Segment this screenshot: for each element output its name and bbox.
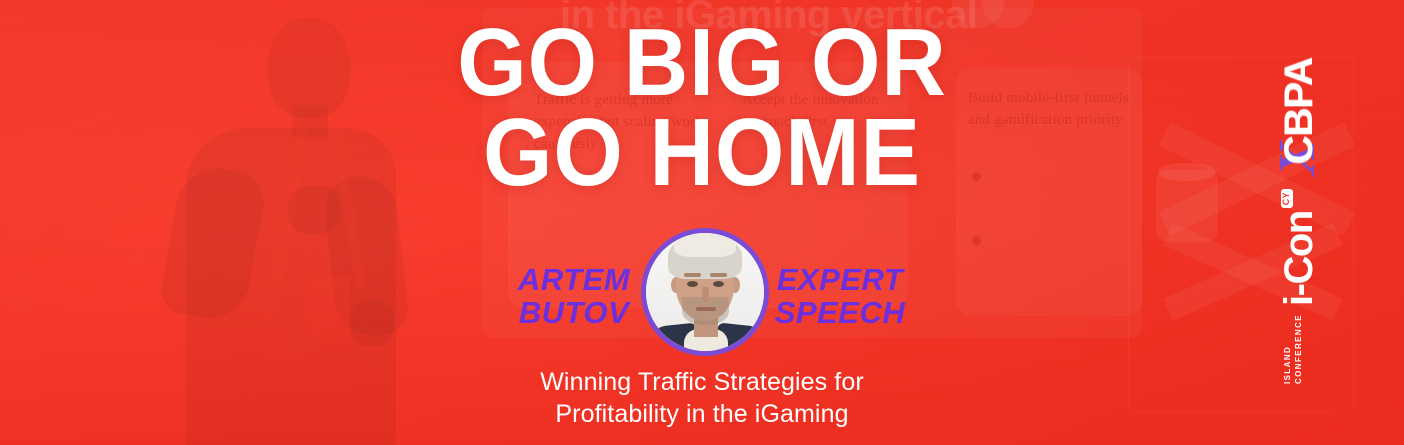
bg-shape-hand-upper [288, 186, 340, 234]
background-bullet-dot [972, 172, 981, 181]
bg-shape-hand-lower [350, 300, 394, 346]
avatar-hair-highlight [674, 233, 736, 257]
avatar-brow-right [710, 273, 727, 277]
promo-banner: in the iGaming vertical Traffic is getti… [0, 0, 1404, 445]
subtitle-line-1: Winning Traffic Strategies for [0, 366, 1404, 398]
background-ghost-text-c: Build mobile-first funnels and gamificat… [968, 88, 1132, 132]
subtitle-line-2: Profitability in the iGaming [0, 398, 1404, 430]
avatar-nose [702, 287, 709, 303]
avatar-brow-left [684, 273, 701, 277]
speaker-first-name: ARTEM [500, 263, 648, 296]
avatar-eye-left [687, 281, 698, 287]
bg-shape-hair [262, 8, 356, 56]
bg-shape-badge [306, 276, 350, 338]
avatar-mouth [696, 307, 716, 311]
background-ghost-text-a: Traffic is getting more expensive but sc… [534, 90, 724, 155]
speaker-name: ARTEM BUTOV [500, 263, 648, 330]
speech-label: EXPERT SPEECH [760, 263, 920, 330]
speech-label-line-2: SPEECH [760, 296, 920, 329]
bg-shape-casino-chips [1156, 170, 1218, 242]
background-photo-casino [1150, 74, 1350, 404]
background-ghost-text-b: Accept the innovation approach first [742, 90, 928, 134]
avatar-eye-right [713, 281, 724, 287]
speaker-last-name: BUTOV [500, 296, 648, 329]
background-ghost-headline: in the iGaming vertical [560, 0, 978, 44]
speaker-avatar [641, 228, 769, 356]
background-bullet-dot [972, 236, 981, 245]
speech-label-line-1: EXPERT [760, 263, 920, 296]
subtitle: Winning Traffic Strategies for Profitabi… [0, 366, 1404, 430]
